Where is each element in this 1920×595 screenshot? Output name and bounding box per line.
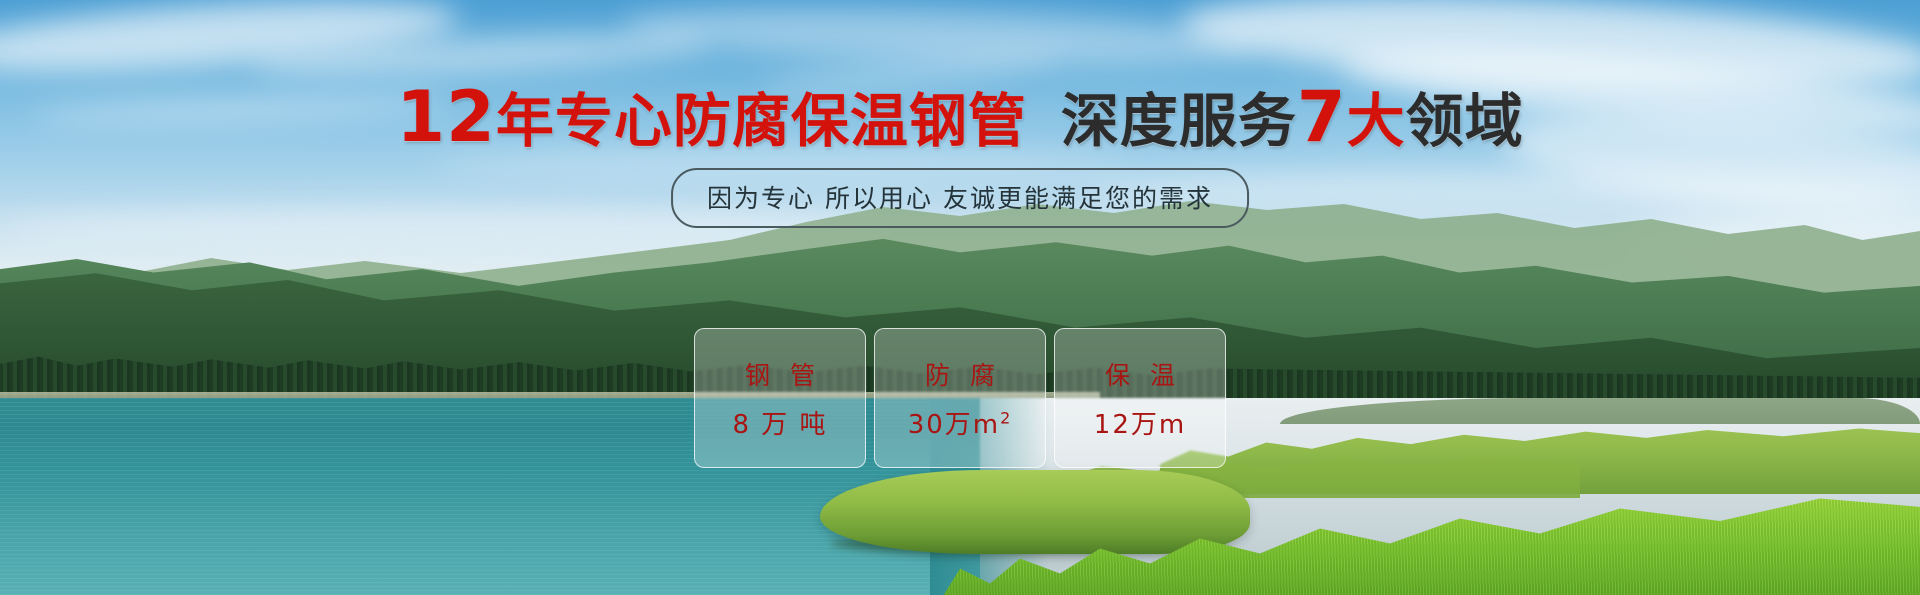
stat-card-steel-pipe[interactable]: 钢 管 8 万 吨: [694, 328, 866, 468]
stat-card-label: 保 温: [1099, 356, 1181, 392]
headline-number-fields: 7: [1297, 76, 1347, 158]
stat-card-value-text: 8 万 吨: [732, 410, 827, 440]
stat-card-value: 30万m2: [908, 404, 1013, 441]
headline-service-text: 深度服务: [1061, 87, 1297, 155]
headline-number-years: 12: [396, 76, 495, 158]
stat-card-value-text: 12万m: [1094, 410, 1186, 440]
headline-red-suffix: 年专心防腐保温钢管: [496, 87, 1027, 155]
stat-card-value: 12万m: [1094, 404, 1186, 441]
stat-card-value: 8 万 吨: [732, 404, 827, 441]
stat-card-label: 防 腐: [919, 356, 1001, 392]
subtitle-pill: 因为专心 所以用心 友诚更能满足您的需求: [671, 168, 1249, 228]
stat-card-label: 钢 管: [739, 356, 821, 392]
stat-card-anticorrosion[interactable]: 防 腐 30万m2: [874, 328, 1046, 468]
stat-card-insulation[interactable]: 保 温 12万m: [1054, 328, 1226, 468]
promo-banner: 12年专心防腐保温钢管深度服务7大领域 因为专心 所以用心 友诚更能满足您的需求…: [0, 0, 1920, 595]
grass-island: [820, 470, 1250, 554]
stat-card-value-superscript: 2: [1000, 408, 1012, 427]
stat-card-group: 钢 管 8 万 吨 防 腐 30万m2 保 温 12万m: [694, 328, 1226, 468]
headline-fields-text: 领域: [1406, 87, 1524, 155]
headline-red-da: 大: [1347, 87, 1406, 155]
banner-headline: 12年专心防腐保温钢管深度服务7大领域: [0, 82, 1920, 152]
stat-card-value-text: 30万m: [908, 410, 1000, 440]
